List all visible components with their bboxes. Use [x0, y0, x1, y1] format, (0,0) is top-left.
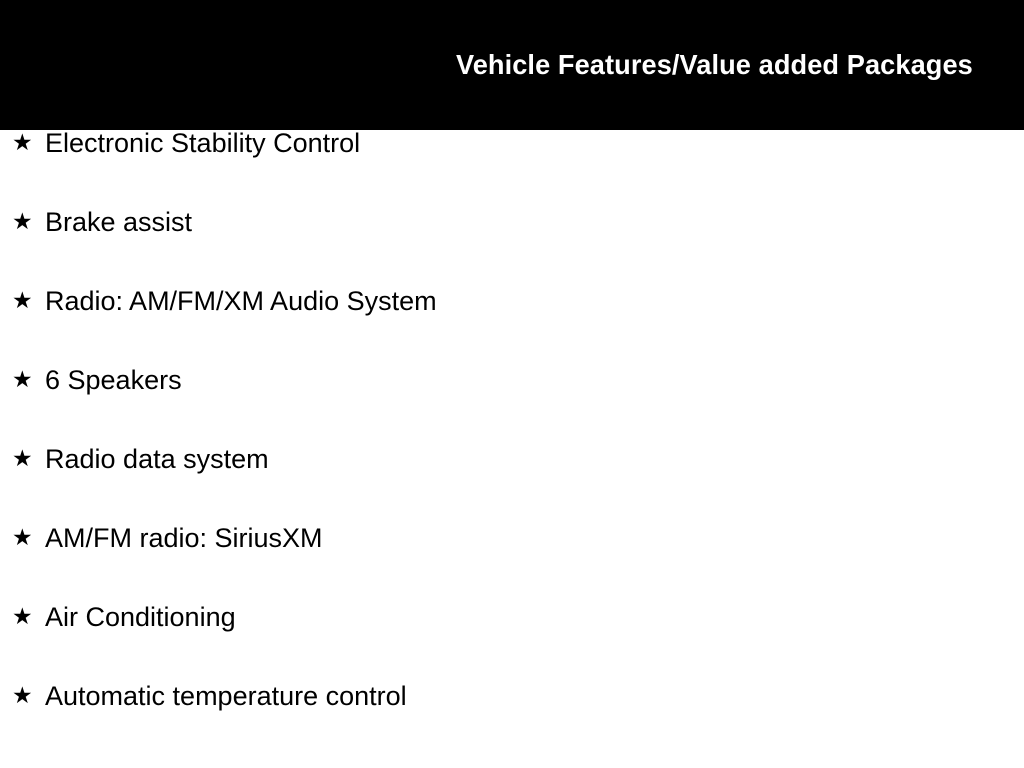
list-item: ★ Radio data system	[0, 446, 1024, 525]
list-item: ★ 6 Speakers	[0, 367, 1024, 446]
list-item-label: Radio data system	[45, 446, 1024, 473]
slide-root: Vehicle Features/Value added Packages ★ …	[0, 0, 1024, 768]
star-bullet-icon: ★	[12, 606, 45, 629]
list-item: ★ Brake assist	[0, 209, 1024, 288]
list-item-label: AM/FM radio: SiriusXM	[45, 525, 1024, 552]
list-item: ★ Air Conditioning	[0, 604, 1024, 683]
list-item: ★ AM/FM radio: SiriusXM	[0, 525, 1024, 604]
page-title: Vehicle Features/Value added Packages	[456, 50, 973, 81]
list-item-label: Automatic temperature control	[45, 683, 1024, 710]
list-item: ★ Radio: AM/FM/XM Audio System	[0, 288, 1024, 367]
star-bullet-icon: ★	[12, 527, 45, 550]
list-item-label: Radio: AM/FM/XM Audio System	[45, 288, 1024, 315]
star-bullet-icon: ★	[12, 290, 45, 313]
list-item: ★ Automatic temperature control	[0, 683, 1024, 762]
vehicle-features-list: ★ Electronic Stability Control ★ Brake a…	[0, 130, 1024, 762]
list-item-label: 6 Speakers	[45, 367, 1024, 394]
list-item-label: Brake assist	[45, 209, 1024, 236]
list-item-label: Air Conditioning	[45, 604, 1024, 631]
list-item: ★ Electronic Stability Control	[0, 130, 1024, 209]
star-bullet-icon: ★	[12, 369, 45, 392]
list-item-label: Electronic Stability Control	[45, 130, 1024, 157]
star-bullet-icon: ★	[12, 211, 45, 234]
star-bullet-icon: ★	[12, 685, 45, 708]
header-banner: Vehicle Features/Value added Packages	[0, 0, 1024, 130]
star-bullet-icon: ★	[12, 132, 45, 155]
star-bullet-icon: ★	[12, 448, 45, 471]
